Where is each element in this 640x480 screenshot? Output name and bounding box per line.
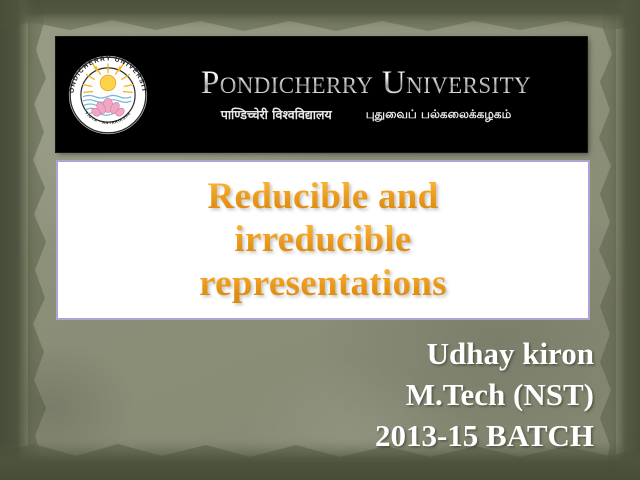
slide-frame-left-edge — [0, 0, 40, 480]
slide-title-box: Reducible and irreducible representation… — [56, 160, 590, 320]
slide-title-line-3: representations — [199, 262, 447, 306]
university-banner: PONDICHERRY UNIVERSITY VIDYA · ANTARIKSH… — [56, 37, 587, 152]
author-batch: 2013-15 BATCH — [375, 416, 594, 457]
author-program: M.Tech (NST) — [375, 375, 594, 416]
university-name-english: Pondicherry University — [151, 67, 581, 101]
author-block: Udhay kiron M.Tech (NST) 2013-15 BATCH — [375, 334, 594, 457]
presentation-slide: PONDICHERRY UNIVERSITY VIDYA · ANTARIKSH… — [0, 0, 640, 480]
slide-title-line-2: irreducible — [234, 218, 411, 262]
university-name-translations: पाण्डिच्चेरी विश्वविद्यालय புதுவைப் பல்க… — [151, 108, 581, 122]
author-name: Udhay kiron — [375, 334, 594, 375]
university-name-tamil: புதுவைப் பல்கலைக்கழகம் — [366, 108, 512, 122]
slide-frame-right-edge — [606, 0, 640, 480]
pondicherry-university-seal-icon: PONDICHERRY UNIVERSITY VIDYA · ANTARIKSH… — [65, 52, 151, 138]
banner-text-block: Pondicherry University पाण्डिच्चेरी विश्… — [151, 67, 587, 121]
slide-title-line-1: Reducible and — [207, 175, 438, 219]
slide-frame-top-edge — [0, 0, 640, 30]
university-name-hindi: पाण्डिच्चेरी विश्वविद्यालय — [221, 108, 332, 122]
